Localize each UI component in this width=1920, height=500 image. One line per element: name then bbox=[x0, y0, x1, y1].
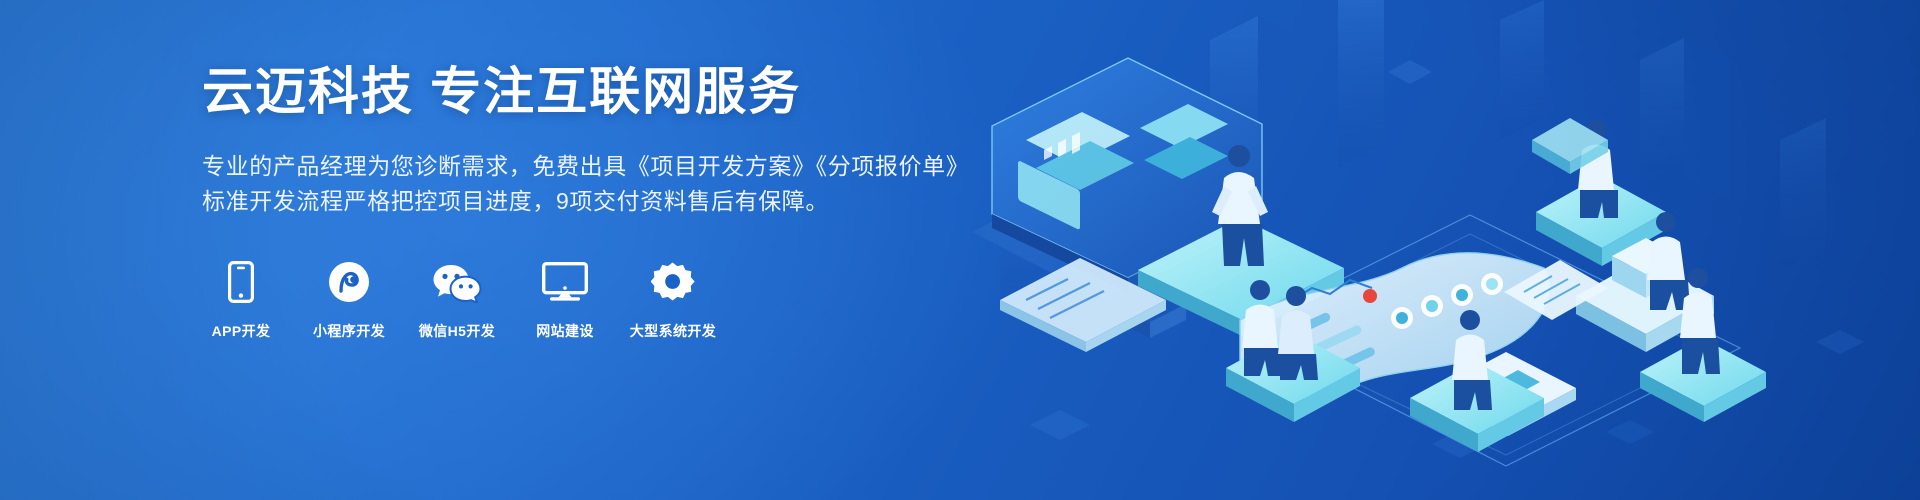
service-item-mini-program[interactable]: 小程序开发 bbox=[310, 257, 388, 341]
service-label-mini-program: 小程序开发 bbox=[313, 321, 385, 341]
service-item-website[interactable]: 网站建设 bbox=[526, 257, 604, 341]
service-list: APP开发 小程序开发 bbox=[202, 257, 962, 341]
wechat-icon bbox=[432, 257, 482, 307]
subtitle-line-2: 标准开发流程严格把控项目进度，9项交付资料售后有保障。 bbox=[202, 184, 962, 219]
service-item-app[interactable]: APP开发 bbox=[202, 257, 280, 341]
hero-banner: 云迈科技 专注互联网服务 专业的产品经理为您诊断需求，免费出具《项目开发方案》《… bbox=[0, 0, 1920, 500]
service-label-app: APP开发 bbox=[212, 321, 271, 341]
service-item-enterprise-system[interactable]: 大型系统开发 bbox=[634, 257, 712, 341]
subtitle-line-1: 专业的产品经理为您诊断需求，免费出具《项目开发方案》《分项报价单》 bbox=[202, 149, 962, 184]
hero-content: 云迈科技 专注互联网服务 专业的产品经理为您诊断需求，免费出具《项目开发方案》《… bbox=[202, 62, 962, 341]
isometric-team-dashboard-illustration bbox=[940, 0, 1920, 500]
service-item-wechat[interactable]: 微信H5开发 bbox=[418, 257, 496, 341]
service-label-website: 网站建设 bbox=[536, 321, 594, 341]
alert-dot bbox=[1363, 289, 1377, 303]
gear-icon bbox=[651, 257, 695, 307]
mobile-phone-icon bbox=[228, 257, 254, 307]
service-label-wechat: 微信H5开发 bbox=[419, 321, 495, 341]
monitor-icon bbox=[542, 257, 588, 307]
service-label-enterprise-system: 大型系统开发 bbox=[630, 321, 716, 341]
illustration-container bbox=[940, 0, 1920, 500]
mini-program-icon bbox=[328, 257, 370, 307]
page-title: 云迈科技 专注互联网服务 bbox=[202, 62, 962, 122]
hero-subtitle: 专业的产品经理为您诊断需求，免费出具《项目开发方案》《分项报价单》 标准开发流程… bbox=[202, 149, 962, 219]
